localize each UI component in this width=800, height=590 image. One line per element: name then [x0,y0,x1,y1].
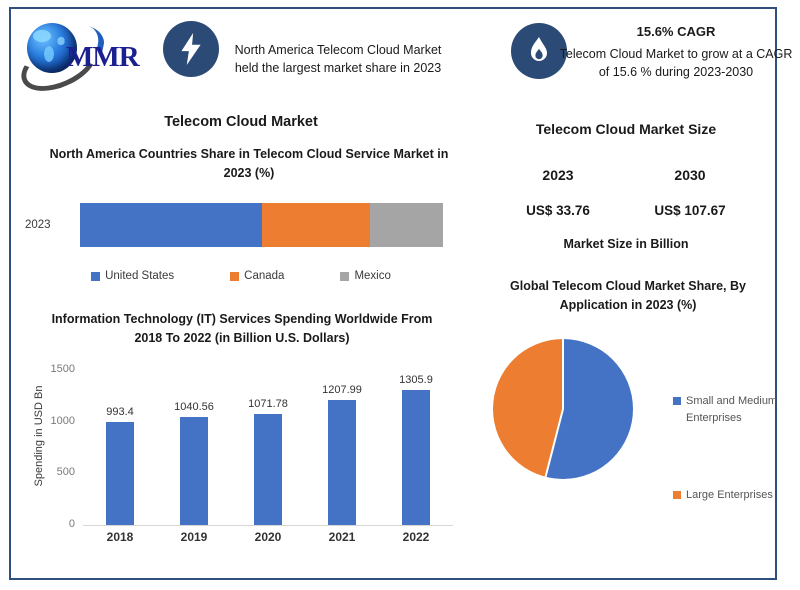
market-size-unit-label: Market Size in Billion [481,237,771,251]
stacked-bar [80,203,443,247]
legend-swatch-canada [230,272,239,281]
y-axis-tick: 0 [33,518,75,530]
bar-chart: Spending in USD Bn 150010005000 993.4104… [11,370,476,570]
legend-label: Large Enterprises [686,487,773,504]
lightning-bolt-icon [163,21,219,77]
bar-column: 1071.78 [231,370,305,525]
y-axis-tick: 1000 [33,415,75,427]
legend-item: Large Enterprises [673,487,773,504]
legend-swatch-united-states [91,272,100,281]
bar [106,422,134,525]
pie-chart [493,339,633,479]
cagr-description: Telecom Cloud Market to grow at a CAGR o… [560,47,793,79]
y-axis-tick: 500 [33,466,75,478]
header-callout-left: North America Telecom Cloud Market held … [233,41,443,77]
legend-item: United States [91,270,174,282]
bar-value-label: 1305.9 [379,374,453,386]
bar [402,390,430,525]
pie-chart-title: Global Telecom Cloud Market Share, By Ap… [485,277,771,315]
stacked-bar-segment-canada [262,203,371,247]
bar-column: 1305.9 [379,370,453,525]
stacked-bar-chart: 2023 [11,203,471,253]
bar [254,414,282,525]
bar-column: 1040.56 [157,370,231,525]
legend-label: Mexico [354,270,390,282]
legend-swatch-large-enterprises [673,491,681,499]
infographic-frame: MMR North America Telecom Cloud Market h… [9,7,777,580]
header: MMR North America Telecom Cloud Market h… [11,9,775,105]
stacked-bar-category-label: 2023 [25,219,51,231]
market-size-value-2023: US$ 33.76 [503,203,613,218]
market-size-year-2023: 2023 [503,167,613,183]
left-column: Telecom Cloud Market North America Count… [11,105,481,582]
legend-label: Canada [244,270,284,282]
bar-value-label: 993.4 [83,406,157,418]
x-axis-tick: 2020 [231,530,305,544]
page-title: Telecom Cloud Market [11,114,471,130]
market-size-value-2030: US$ 107.67 [635,203,745,218]
cagr-value: 15.6% CAGR [559,23,793,42]
bar-value-label: 1071.78 [231,398,305,410]
bar-column: 1207.99 [305,370,379,525]
legend-item: Small and Medium Enterprises [673,393,779,427]
mmr-logo: MMR [21,19,151,81]
bar-chart-plot-area: 993.41040.561071.781207.991305.9 [83,370,453,526]
market-size-year-2030: 2030 [635,167,745,183]
stacked-bar-segment-united-states [80,203,262,247]
stacked-bar-legend: United States Canada Mexico [11,270,471,282]
y-axis-ticks: 150010005000 [33,370,75,525]
legend-label: Small and Medium Enterprises [686,393,779,427]
legend-label: United States [105,270,174,282]
legend-swatch-mexico [340,272,349,281]
legend-item: Mexico [340,270,390,282]
bar [180,417,208,525]
x-axis-tick: 2019 [157,530,231,544]
y-axis-tick: 1500 [33,363,75,375]
bar-chart-title: Information Technology (IT) Services Spe… [37,310,447,349]
bar [328,400,356,525]
x-axis-tick: 2021 [305,530,379,544]
stacked-bar-segment-mexico [370,203,443,247]
x-axis-tick: 2022 [379,530,453,544]
market-size-title: Telecom Cloud Market Size [481,121,771,137]
bar-value-label: 1207.99 [305,384,379,396]
x-axis-tick: 2018 [83,530,157,544]
legend-swatch-small-and-medium-enterprises [673,397,681,405]
right-column: Telecom Cloud Market Size 2023 2030 US$ … [481,105,779,582]
header-callout-right: 15.6% CAGR Telecom Cloud Market to grow … [559,23,793,81]
stacked-bar-chart-title: North America Countries Share in Telecom… [49,145,449,183]
logo-text: MMR [66,41,139,74]
bar-column: 993.4 [83,370,157,525]
legend-item: Canada [230,270,284,282]
bar-value-label: 1040.56 [157,401,231,413]
